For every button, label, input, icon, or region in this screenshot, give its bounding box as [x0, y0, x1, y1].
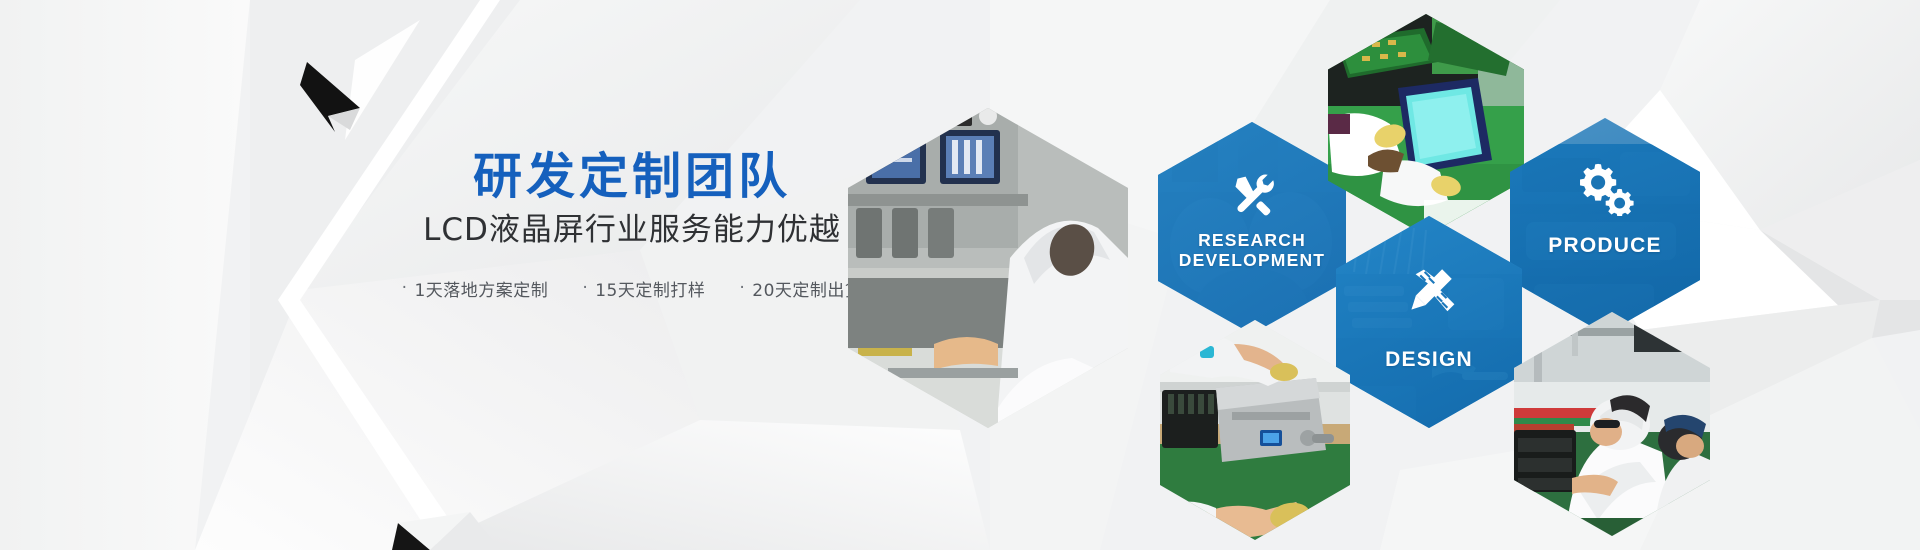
hexagon-top-photo: [1328, 14, 1524, 236]
gears-icon: [1574, 160, 1636, 216]
bullet-label: 15天定制打样: [595, 276, 705, 301]
bullet-dot-icon: ·: [582, 280, 588, 297]
list-item: · 15天定制打样: [582, 276, 705, 301]
blue-overlay: [1336, 216, 1522, 428]
blue-overlay: [1510, 118, 1700, 334]
hexagon-bottom-right-photo: [1514, 312, 1710, 536]
pencil-ruler-icon: [1401, 264, 1457, 320]
hexagon-produce[interactable]: PRODUCE: [1510, 118, 1700, 334]
hexagon-design[interactable]: DESIGN: [1336, 216, 1522, 428]
cleanroom-operator-photo: [848, 108, 1128, 428]
bullet-label: 1天落地方案定制: [414, 276, 548, 301]
hexagon-bottom-left-photo: [1160, 320, 1350, 540]
promo-banner: 研发定制团队 LCD液晶屏行业服务能力优越 · 1天落地方案定制 · 15天定制…: [0, 0, 1920, 550]
technicians-workbench-photo: [1514, 312, 1710, 536]
hexagon-label-produce: PRODUCE: [1510, 234, 1700, 258]
list-item: · 1天落地方案定制: [402, 276, 549, 301]
hexagon-label-line2: DEVELOPMENT: [1158, 250, 1346, 270]
wrench-screwdriver-icon: [1225, 166, 1279, 220]
hexagon-label-design: DESIGN: [1336, 348, 1522, 372]
hexagon-cluster: RESEARCH DEVELOPMENT: [820, 0, 1920, 550]
bullet-dot-icon: ·: [402, 280, 408, 297]
cutting-machine-photo: [1160, 320, 1350, 540]
hexagon-main-photo: [848, 108, 1128, 428]
blue-overlay: [1158, 122, 1346, 334]
hexagon-research-development[interactable]: RESEARCH DEVELOPMENT: [1158, 122, 1346, 334]
hexagon-label-research-development: RESEARCH DEVELOPMENT: [1158, 230, 1346, 270]
bullet-dot-icon: ·: [739, 280, 745, 297]
hexagon-label-line1: RESEARCH: [1158, 230, 1346, 250]
lcd-module-inspection-photo: [1328, 14, 1524, 236]
